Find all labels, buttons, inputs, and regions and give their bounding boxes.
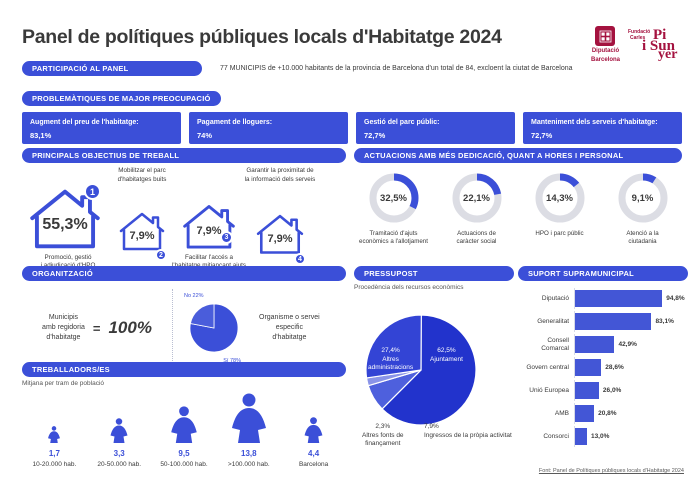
action-donut-item: 9,1%Atenció a laciutadania [603, 171, 682, 246]
worker-caption: 20-50.000 hab. [87, 461, 152, 468]
actions-pill: ACTUACIONS AMB MÉS DEDICACIÓ, QUANT A HO… [354, 148, 682, 163]
worker-caption: 10-20.000 hab. [22, 461, 87, 468]
problem-card-list: Augment del preu de l'habitatge:83,1%Pag… [22, 112, 682, 144]
action-donut-chart: 9,1% [616, 171, 670, 225]
objectives-pill: PRINCIPALS OBJECTIUS DE TREBALL [22, 148, 346, 163]
bar-label: Unió Europea [518, 387, 574, 395]
source-note: Font: Panel de Polítiques públiques loca… [539, 468, 684, 474]
worker-caption: Barcelona [281, 461, 346, 468]
worker-value: 1,7 [22, 449, 87, 458]
bar-value: 28,6% [605, 364, 623, 371]
budget-pill: PRESSUPOST [354, 266, 514, 281]
house-icon: 7,9% [117, 211, 167, 252]
workers-pill: TREBALLADORS/ES [22, 362, 346, 377]
organization-pill: ORGANITZACIÓ [22, 266, 346, 281]
worker-item: 4,4Barcelona [281, 397, 346, 468]
problem-card: Manteniment dels serveis d'habitatge:72,… [523, 112, 682, 144]
organization-equals: = [93, 321, 101, 336]
person-icon [87, 397, 152, 443]
workers-section: TREBALLADORS/ES Mitjana per tram de pobl… [22, 362, 346, 468]
worker-item: 1,710-20.000 hab. [22, 397, 87, 468]
person-icon [281, 397, 346, 443]
organization-left-value: 100% [108, 318, 151, 338]
action-donut-caption: HPO i parc públic [520, 230, 599, 238]
organization-right: No 22% Sí 78% Organisme o serveiespecifi… [173, 287, 346, 369]
budget-label-altres-fonts: 2,3%Altres fonts definançament [362, 423, 404, 449]
diputacio-shield-icon [595, 26, 615, 46]
participation-section: PARTICIPACIÓ AL PANEL 77 MUNICIPIS de +1… [22, 61, 682, 76]
bar-row: Govern central28,6% [518, 357, 688, 378]
problem-card-value: 72,7% [364, 131, 507, 140]
bar-row: Generalitat83,1% [518, 311, 688, 332]
actions-donut-list: 32,5%Tramitació d'ajutseconòmics a l'all… [354, 171, 682, 246]
bar-label: Govern central [518, 364, 574, 372]
objective-value: 7,9% [117, 230, 167, 242]
infographic-page: Panel de polítiques públiques locals d'H… [0, 0, 696, 488]
worker-item: 3,320-50.000 hab. [87, 397, 152, 468]
organization-left-label: Municipisamb regidoriad'habitatge [42, 313, 85, 343]
action-donut-item: 14,3%HPO i parc públic [520, 171, 599, 246]
worker-value: 9,5 [152, 449, 217, 458]
action-donut-value: 14,3% [533, 171, 587, 225]
objectives-section: PRINCIPALS OBJECTIUS DE TREBALL 55,3%1Pr… [22, 148, 346, 267]
supramunicipal-pill: SUPORT SUPRAMUNICIPAL [518, 266, 688, 281]
diputacio-logo-line1: Diputació [592, 48, 619, 55]
bar-row: AMB20,8% [518, 403, 688, 424]
bar-fill [575, 313, 651, 330]
participation-text: 77 MUNICIPIS de +10.000 habitants de la … [220, 65, 573, 72]
organization-pie-no-label: No 22% [184, 293, 204, 299]
bar-fill [575, 382, 599, 399]
problem-card: Pagament de lloguers:74% [189, 112, 348, 144]
objective-rank-badge: 3 [220, 231, 233, 244]
fundacio-pi-sunyer-logo: Fundació Carles Pi i Sun yer [628, 28, 686, 62]
house-icon: 7,9% [180, 203, 238, 251]
bar-row: Consorci13,0% [518, 426, 688, 447]
objective-caption: Mobilitzar el parcd'habitatges buits [99, 167, 185, 184]
problem-card-label: Pagament de lloguers: [197, 118, 340, 128]
problem-card-value: 74% [197, 131, 340, 140]
bar-track: 94,8% [574, 288, 688, 309]
worker-item: 9,550-100.000 hab. [152, 397, 217, 468]
worker-value: 4,4 [281, 449, 346, 458]
problems-pill: PROBLEMÀTIQUES DE MAJOR PREOCUPACIÓ [22, 91, 221, 106]
problem-card-value: 72,7% [531, 131, 674, 140]
budget-label-altres-administracions: 27,4%Altresadministracions [368, 347, 413, 373]
budget-label-ingressos: 7,9%Ingressos de la pròpia activitat [424, 423, 512, 440]
supramunicipal-section: SUPORT SUPRAMUNICIPAL Diputació94,8%Gene… [518, 266, 688, 449]
worker-item: 13,8>100.000 hab. [216, 397, 281, 468]
bar-value: 13,0% [591, 433, 609, 440]
action-donut-chart: 14,3% [533, 171, 587, 225]
organization-body: Municipisamb regidoriad'habitatge = 100%… [22, 287, 346, 369]
problem-card-label: Augment del preu de l'habitatge: [30, 118, 173, 128]
action-donut-item: 32,5%Tramitació d'ajutseconòmics a l'all… [354, 171, 433, 246]
objectives-house-list: 55,3%1Promoció, gestiói adjudicació d'HP… [22, 167, 346, 267]
objective-rank-badge: 4 [294, 253, 306, 265]
bar-value: 42,9% [618, 341, 636, 348]
problem-card-value: 83,1% [30, 131, 173, 140]
bar-label: Generalitat [518, 318, 574, 326]
bar-track: 26,0% [574, 380, 688, 401]
action-donut-chart: 22,1% [450, 171, 504, 225]
objective-caption: Garantir la proximitat dela informació d… [224, 167, 336, 184]
bar-track: 28,6% [574, 357, 688, 378]
bar-label: Consorci [518, 433, 574, 441]
bar-track: 13,0% [574, 426, 688, 447]
problem-card-label: Manteniment dels serveis d'habitatge: [531, 118, 674, 128]
workers-list: 1,710-20.000 hab.3,320-50.000 hab.9,550-… [22, 397, 346, 468]
budget-section: PRESSUPOST Procedència dels recursos eco… [354, 266, 514, 447]
bar-track: 83,1% [574, 311, 688, 332]
page-header: Panel de polítiques públiques locals d'H… [0, 0, 696, 56]
fundacio-logo-yer: yer [658, 48, 677, 62]
bar-fill [575, 428, 587, 445]
worker-value: 13,8 [216, 449, 281, 458]
person-icon [152, 397, 217, 443]
workers-subtitle: Mitjana per tram de població [22, 380, 346, 387]
organization-right-caption: Organisme o serveiespecificd'habitatge [259, 313, 320, 343]
bar-label: Diputació [518, 295, 574, 303]
bar-row: Unió Europea26,0% [518, 380, 688, 401]
participation-pill: PARTICIPACIÓ AL PANEL [22, 61, 202, 76]
budget-subtitle: Procedència dels recursos econòmics [354, 284, 514, 291]
problem-card: Gestió del parc públic:72,7% [356, 112, 515, 144]
bar-value: 20,8% [598, 410, 616, 417]
action-donut-caption: Atenció a laciutadania [603, 230, 682, 246]
diputacio-barcelona-logo: Diputació Barcelona [591, 26, 620, 64]
budget-label-ajuntament: 62,5%Ajuntament [430, 347, 463, 364]
worker-caption: >100.000 hab. [216, 461, 281, 468]
worker-caption: 50-100.000 hab. [152, 461, 217, 468]
bar-fill [575, 405, 594, 422]
bar-fill [575, 290, 662, 307]
bar-row: ConsellComarcal42,9% [518, 334, 688, 355]
action-donut-chart: 32,5% [367, 171, 421, 225]
worker-value: 3,3 [87, 449, 152, 458]
problems-section: PROBLEMÀTIQUES DE MAJOR PREOCUPACIÓ Augm… [22, 88, 682, 144]
action-donut-value: 32,5% [367, 171, 421, 225]
action-donut-item: 22,1%Actuacions decaràcter social [437, 171, 516, 246]
action-donut-caption: Actuacions decaràcter social [437, 230, 516, 246]
actions-section: ACTUACIONS AMB MÉS DEDICACIÓ, QUANT A HO… [354, 148, 682, 246]
organization-section: ORGANITZACIÓ Municipisamb regidoriad'hab… [22, 266, 346, 369]
action-donut-value: 9,1% [616, 171, 670, 225]
bar-track: 20,8% [574, 403, 688, 424]
person-icon [22, 397, 87, 443]
bar-value: 94,8% [666, 295, 684, 302]
organization-left: Municipisamb regidoriad'habitatge = 100% [22, 287, 172, 369]
logo-group: Diputació Barcelona Fundació Carles Pi i… [591, 26, 686, 64]
bar-value: 26,0% [603, 387, 621, 394]
bar-label: ConsellComarcal [518, 337, 574, 353]
problem-card-label: Gestió del parc públic: [364, 118, 507, 128]
problem-card: Augment del preu de l'habitatge:83,1% [22, 112, 181, 144]
house-icon: 7,9% [254, 213, 306, 256]
bar-track: 42,9% [574, 334, 688, 355]
bar-value: 83,1% [655, 318, 673, 325]
page-title: Panel de polítiques públiques locals d'H… [22, 26, 502, 49]
organization-pie-chart: No 22% Sí 78% [183, 297, 245, 359]
objective-value: 55,3% [26, 216, 104, 234]
action-donut-value: 22,1% [450, 171, 504, 225]
supramunicipal-bar-chart: Diputació94,8%Generalitat83,1%ConsellCom… [518, 288, 688, 447]
objective-value: 7,9% [254, 233, 306, 245]
bar-fill [575, 359, 601, 376]
objective-rank-badge: 1 [84, 183, 101, 200]
bar-fill [575, 336, 614, 353]
budget-pie-wrap: 62,5%Ajuntament 27,4%Altresadministracio… [354, 297, 514, 447]
person-icon [216, 397, 281, 443]
action-donut-caption: Tramitació d'ajutseconòmics a l'allotjam… [354, 230, 433, 246]
bar-label: AMB [518, 410, 574, 418]
bar-row: Diputació94,8% [518, 288, 688, 309]
